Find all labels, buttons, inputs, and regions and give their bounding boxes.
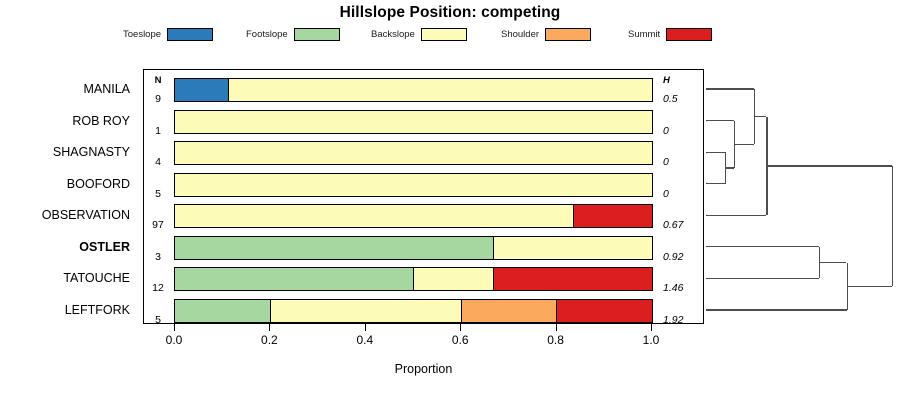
dendro-branch-h [725, 167, 734, 168]
n-value: 5 [143, 188, 173, 200]
legend: ToeslopeFootslopeBackslopeShoulderSummit [123, 26, 783, 42]
dendro-branch-h [734, 144, 754, 145]
h-value: 0 [659, 156, 703, 168]
bar-segment-backslope [174, 204, 574, 228]
y-label-observation: OBSERVATION [42, 208, 130, 222]
n-value: 3 [143, 251, 173, 263]
legend-label: Shoulder [501, 29, 539, 40]
dendrogram [706, 69, 900, 324]
bar-segment-backslope [174, 141, 652, 165]
y-axis-labels: MANILAROB ROYSHAGNASTYBOOFORDOBSERVATION… [0, 69, 138, 324]
n-value: 4 [143, 156, 173, 168]
bar-segment-footslope [174, 267, 414, 291]
y-label-shagnasty: SHAGNASTY [53, 145, 130, 159]
n-value: 97 [143, 219, 173, 231]
bar-row [175, 236, 652, 260]
x-tick [460, 324, 461, 331]
bars-layer [144, 70, 705, 325]
x-tick-label: 0.8 [547, 333, 564, 347]
y-label-leftfork: LEFTFORK [65, 303, 130, 317]
dendro-branch-h [706, 309, 847, 310]
x-tick [556, 324, 557, 331]
legend-swatch-summit [666, 28, 712, 41]
x-tick-label: 0.0 [166, 333, 183, 347]
x-axis-title: Proportion [143, 362, 704, 376]
n-value: 9 [143, 93, 173, 105]
bar-segment-footslope [174, 236, 494, 260]
bar-segment-toeslope [174, 78, 228, 102]
n-column-header: N [143, 75, 173, 86]
bar-segment-backslope [270, 299, 462, 323]
dendro-branch-h [706, 278, 819, 279]
legend-label: Footslope [246, 29, 288, 40]
dendro-branch-h [706, 88, 754, 89]
legend-swatch-toeslope [167, 28, 213, 41]
n-value: 1 [143, 125, 173, 137]
h-value: 0.92 [659, 251, 703, 263]
dendro-branch-h [847, 286, 893, 287]
bar-row [175, 299, 652, 323]
x-tick-label: 0.6 [452, 333, 469, 347]
bar-row [175, 141, 652, 165]
dendro-branch-v [892, 166, 893, 286]
legend-label: Toeslope [123, 29, 161, 40]
bar-segment-summit [492, 267, 652, 291]
bar-segment-footslope [174, 299, 271, 323]
bar-segment-shoulder [461, 299, 558, 323]
bar-segment-summit [573, 204, 653, 228]
bar-row [175, 110, 652, 134]
legend-swatch-shoulder [545, 28, 591, 41]
x-tick [269, 324, 270, 331]
bar-segment-backslope [413, 267, 494, 291]
x-tick [651, 324, 652, 331]
dendro-branch-h [754, 116, 767, 117]
legend-item-summit: Summit [628, 26, 712, 42]
dendro-branch-h [706, 246, 819, 247]
legend-item-shoulder: Shoulder [501, 26, 591, 42]
h-value: 0 [659, 188, 703, 200]
h-value: 0.5 [659, 93, 703, 105]
legend-item-footslope: Footslope [246, 26, 340, 42]
bar-segment-summit [556, 299, 653, 323]
x-tick [174, 324, 175, 331]
h-column-header: H [659, 75, 703, 86]
x-tick-label: 0.2 [261, 333, 278, 347]
bar-row [175, 204, 652, 228]
x-tick [365, 324, 366, 331]
bar-row [175, 267, 652, 291]
legend-label: Backslope [371, 29, 415, 40]
h-value: 1.46 [659, 282, 703, 294]
dendro-branch-h [706, 120, 734, 121]
chart-root: Hillslope Position: competing ToeslopeFo… [0, 0, 900, 400]
h-column: H0.50000.670.921.461.92 [659, 69, 704, 324]
bar-segment-backslope [174, 173, 652, 197]
y-label-booford: BOOFORD [67, 177, 130, 191]
y-label-rob-roy: ROB ROY [72, 114, 130, 128]
bar-row [175, 173, 652, 197]
legend-swatch-backslope [421, 28, 467, 41]
x-tick-label: 0.4 [356, 333, 373, 347]
dendro-branch-h [819, 262, 846, 263]
legend-item-toeslope: Toeslope [123, 26, 213, 42]
n-column: N9145973125 [143, 69, 173, 324]
y-label-tatouche: TATOUCHE [63, 271, 130, 285]
bar-segment-backslope [227, 78, 652, 102]
x-tick-label: 1.0 [643, 333, 660, 347]
h-value: 0 [659, 125, 703, 137]
legend-item-backslope: Backslope [371, 26, 467, 42]
bar-segment-backslope [492, 236, 652, 260]
x-axis: 0.00.20.40.60.81.0 [143, 324, 704, 364]
chart-title: Hillslope Position: competing [0, 4, 900, 22]
y-label-manila: MANILA [83, 82, 130, 96]
legend-swatch-footslope [294, 28, 340, 41]
bar-segment-backslope [174, 110, 652, 134]
bar-row [175, 78, 652, 102]
dendro-branch-h [766, 165, 892, 166]
h-value: 0.67 [659, 219, 703, 231]
dendro-branch-h [706, 183, 725, 184]
y-label-ostler: OSTLER [79, 240, 130, 254]
legend-label: Summit [628, 29, 660, 40]
dendro-branch-h [706, 152, 725, 153]
n-value: 12 [143, 282, 173, 294]
plot-area [143, 69, 704, 324]
dendro-branch-h [706, 215, 766, 216]
